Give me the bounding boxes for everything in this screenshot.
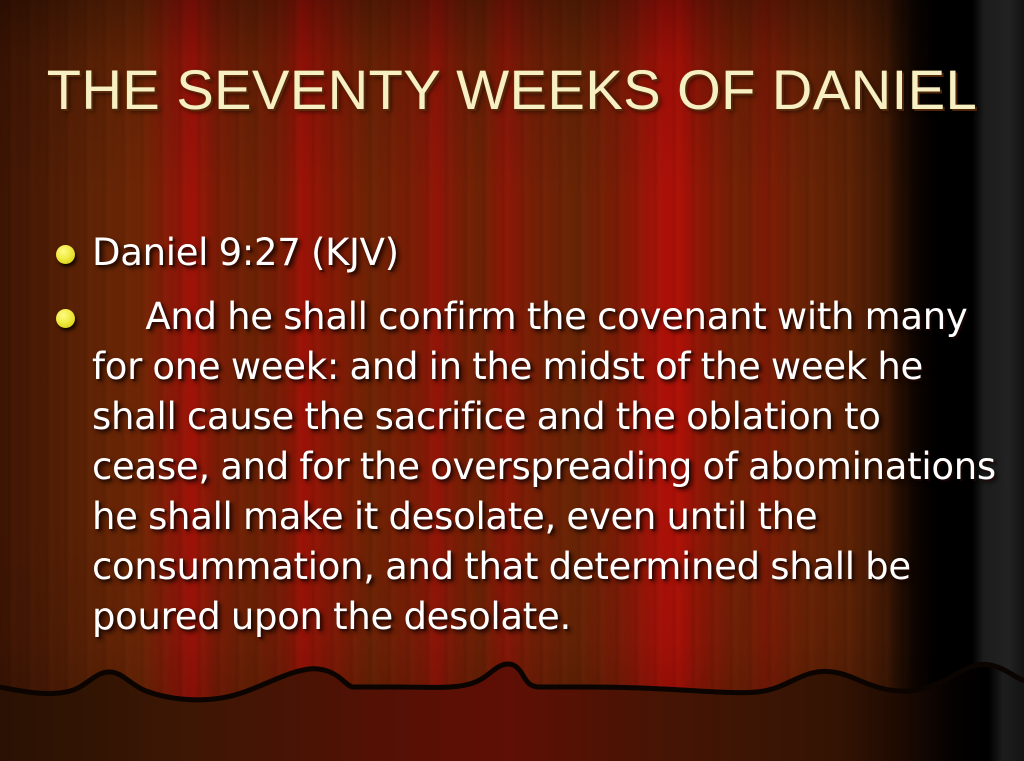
curtain-hem-decoration xyxy=(0,651,1024,761)
bullet-dot-icon xyxy=(56,309,75,328)
page-title: THE SEVENTY WEEKS OF DANIEL xyxy=(0,58,1024,122)
bullet-text: Daniel 9:27 (KJV) xyxy=(92,231,399,274)
presentation-slide: THE SEVENTY WEEKS OF DANIEL Daniel 9:27 … xyxy=(0,0,1024,761)
bullet-text: And he shall confirm the covenant with m… xyxy=(92,295,1006,638)
bullet-dot-icon xyxy=(56,245,75,264)
list-item: Daniel 9:27 (KJV) xyxy=(46,228,1006,278)
slide-body: Daniel 9:27 (KJV) And he shall confirm t… xyxy=(46,228,1006,642)
list-item: And he shall confirm the covenant with m… xyxy=(46,292,1006,642)
